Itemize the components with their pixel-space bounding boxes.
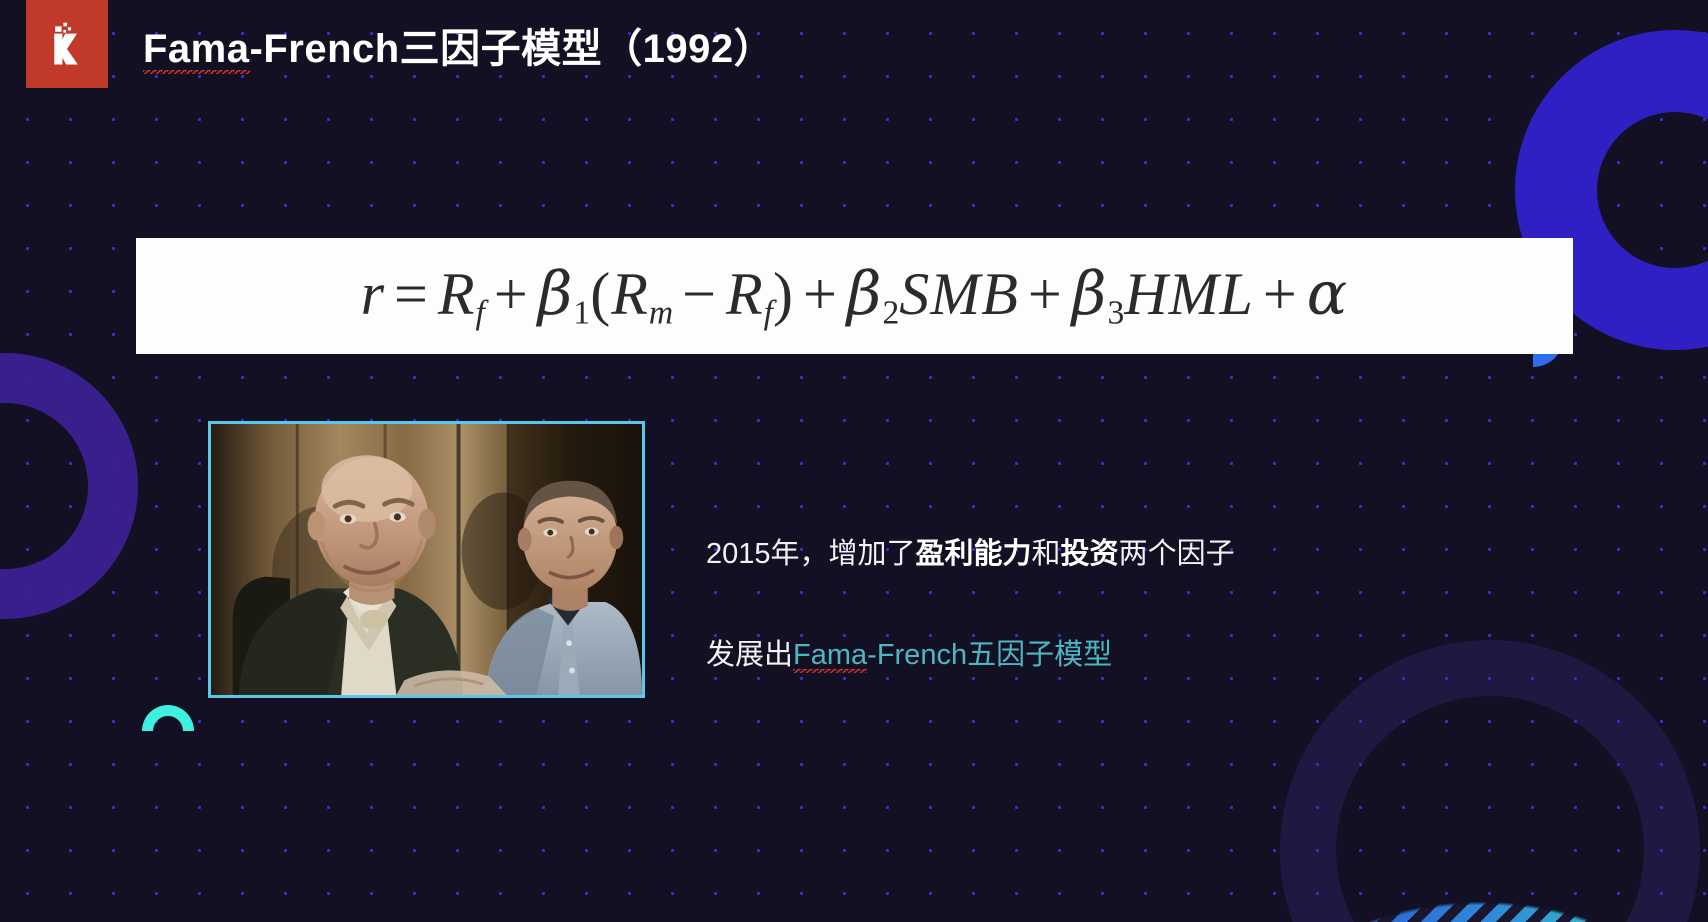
body-line-1-part-c: 和 xyxy=(1032,538,1061,570)
formula-plus-3: + xyxy=(1019,261,1072,327)
formula-rf-sub: f xyxy=(476,295,485,332)
purple-ring-left-decor xyxy=(0,353,138,619)
body-line-1-part-e: 两个因子 xyxy=(1119,538,1235,570)
page-title-part-1: Fama xyxy=(143,27,250,74)
formula-rf: R xyxy=(438,261,476,327)
body-line-2-part-a: 发展出 xyxy=(706,639,793,671)
formula-rm-sub: m xyxy=(649,295,673,332)
formula-rf2: R xyxy=(726,261,764,327)
body-line-2-highlight-rest: -French五因子模型 xyxy=(867,639,1112,671)
formula-plus-1: + xyxy=(485,261,538,327)
formula-paren-close: ) xyxy=(773,261,794,327)
fama-french-photo xyxy=(208,421,645,698)
formula-rf2-sub: f xyxy=(764,295,773,332)
fama-french-formula: r=Rf+β1(Rm−Rf)+β2SMB+β3HML+α xyxy=(361,259,1349,332)
striped-fan-decor xyxy=(1355,800,1708,922)
formula-card: r=Rf+β1(Rm−Rf)+β2SMB+β3HML+α xyxy=(136,238,1573,354)
brand-logo-icon xyxy=(26,0,108,88)
formula-paren-open: ( xyxy=(590,261,611,327)
formula-minus: − xyxy=(673,261,726,327)
formula-beta1: β xyxy=(538,259,574,329)
body-line-2-highlight-fama: Fama xyxy=(793,639,867,673)
slide-header: Fama-French三因子模型（1992） xyxy=(0,0,1708,88)
formula-lhs: r xyxy=(361,261,385,327)
formula-hml: HML xyxy=(1124,261,1254,327)
formula-plus-4: + xyxy=(1254,261,1307,327)
body-line-1: 2015年，增加了盈利能力和投资两个因子 xyxy=(706,535,1466,574)
formula-beta2-sub: 2 xyxy=(882,295,899,332)
formula-beta3: β xyxy=(1072,259,1108,329)
body-line-2: 发展出Fama-French五因子模型 xyxy=(706,636,1466,675)
page-title: Fama-French三因子模型（1992） xyxy=(143,16,774,74)
formula-rm: R xyxy=(611,261,649,327)
formula-alpha: α xyxy=(1307,259,1349,329)
formula-smb: SMB xyxy=(899,261,1019,327)
formula-beta3-sub: 3 xyxy=(1107,295,1124,332)
slide-canvas: Fama-French三因子模型（1992） r=Rf+β1(Rm−Rf)+β2… xyxy=(0,0,1708,922)
formula-plus-2: + xyxy=(794,261,847,327)
page-title-part-2: -French三因子模型（1992） xyxy=(250,27,775,71)
body-line-1-part-a: 2015年，增加了 xyxy=(706,538,916,570)
faint-ring-decor xyxy=(1280,640,1700,922)
formula-equals: = xyxy=(385,261,438,327)
formula-beta1-sub: 1 xyxy=(573,295,590,332)
striped-fan-shadow-decor xyxy=(1355,800,1708,922)
cyan-arc-decor xyxy=(142,705,194,731)
formula-beta2: β xyxy=(847,259,883,329)
body-line-1-bold-investment: 投资 xyxy=(1061,538,1119,570)
body-line-1-bold-profitability: 盈利能力 xyxy=(916,538,1032,570)
body-text-block: 2015年，增加了盈利能力和投资两个因子 发展出Fama-French五因子模型 xyxy=(706,535,1466,675)
